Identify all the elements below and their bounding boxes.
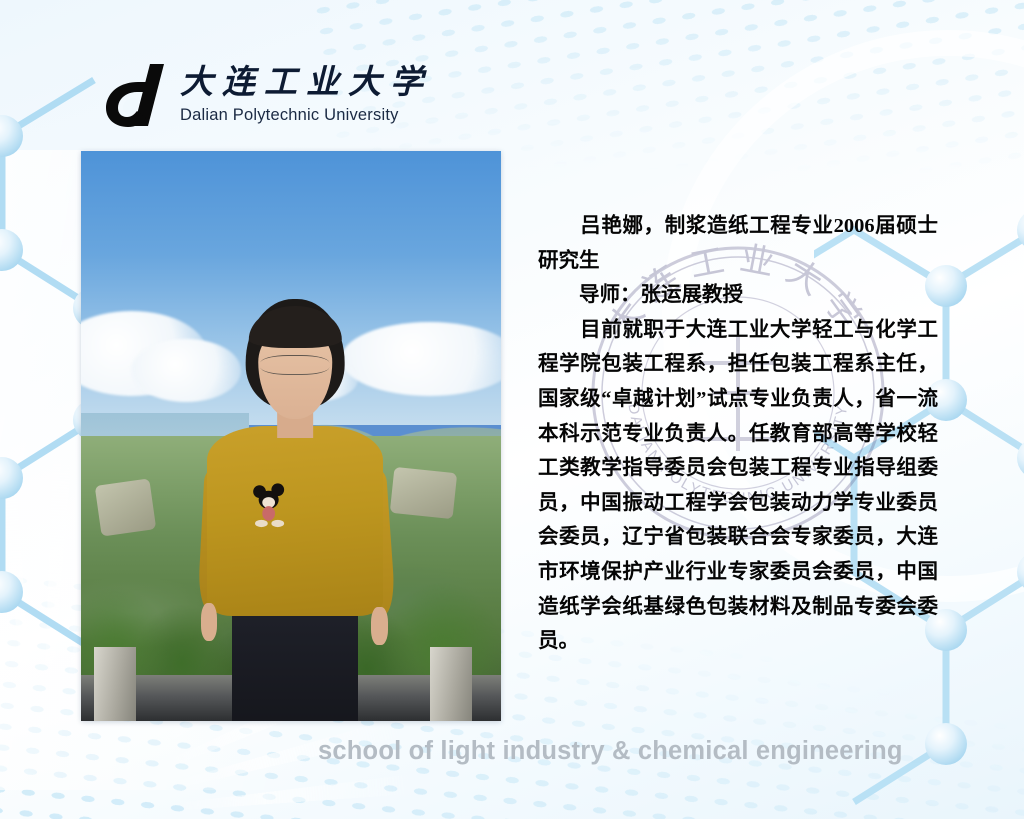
photo-person-glasses: [261, 355, 330, 375]
photo-cliff-rock: [94, 478, 155, 536]
university-name-en: Dalian Polytechnic University: [180, 107, 432, 124]
portrait-photo: [81, 151, 501, 721]
photo-person-fringe: [249, 306, 341, 348]
university-logo-block: 大连工业大学 Dalian Polytechnic University: [104, 62, 432, 128]
mickey-mouse-print-icon: [245, 464, 300, 548]
university-name-cn: 大连工业大学: [180, 67, 432, 100]
university-name-group: 大连工业大学 Dalian Polytechnic University: [180, 67, 432, 124]
photo-railing-post: [430, 647, 472, 721]
biography-text: 吕艳娜，制浆造纸工程专业2006届硕士研究生 导师：张运展教授 目前就职于大连工…: [538, 209, 938, 659]
photo-person: [190, 299, 400, 721]
photo-person-right-hand: [371, 607, 388, 645]
slide-canvas: 大连工业大学 Dalian Polytechnic University: [0, 0, 1024, 819]
footer-school-name: school of light industry & chemical engi…: [318, 737, 903, 766]
dalian-polytechnic-d-monogram-icon: [104, 62, 168, 128]
photo-railing-post: [94, 647, 136, 721]
photo-person-left-hand: [201, 603, 218, 641]
